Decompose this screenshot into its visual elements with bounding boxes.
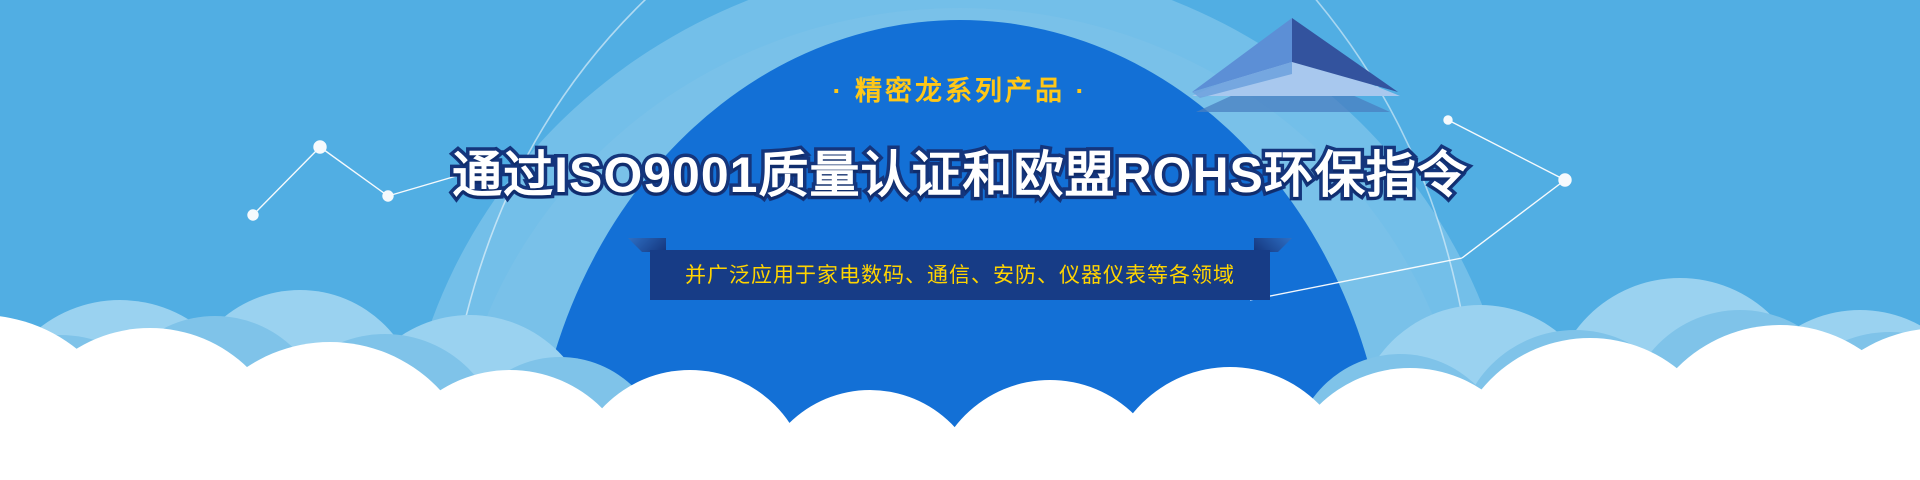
cloud-band (0, 0, 1920, 480)
promo-banner: · 精密龙系列产品 · 通过ISO9001质量认证和欧盟ROHS环保指令 并广泛… (0, 0, 1920, 480)
